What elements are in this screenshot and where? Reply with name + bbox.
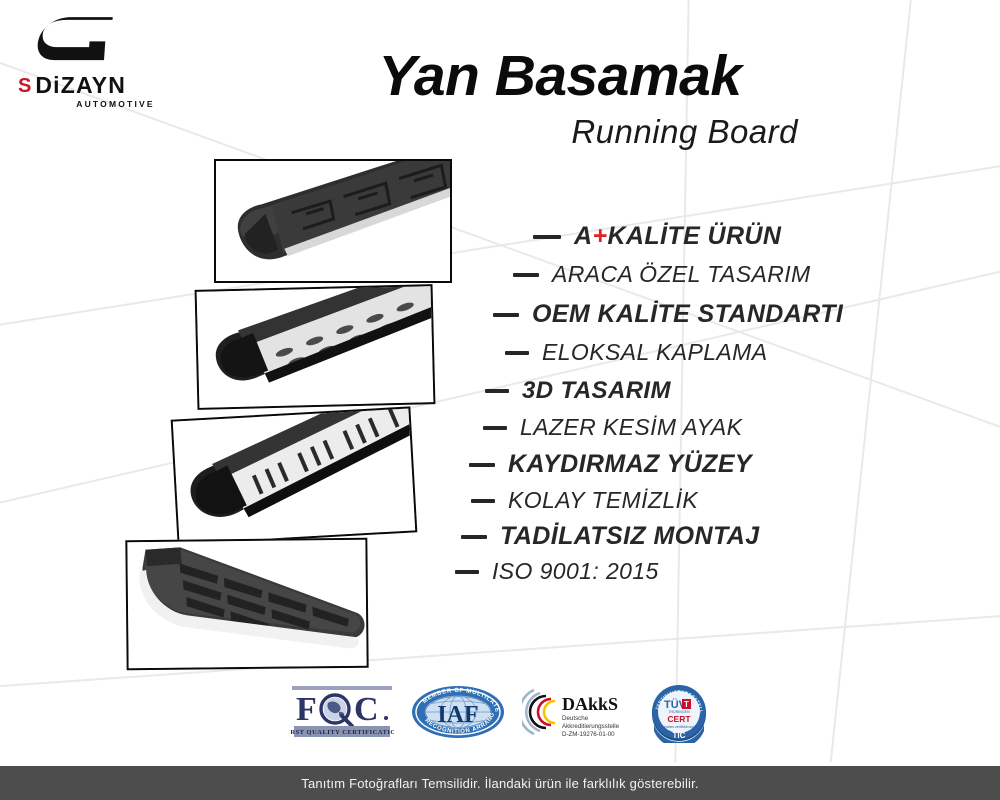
running-board-black-maze-tread bbox=[216, 161, 450, 281]
feature-label: KOLAY TEMİZLİK bbox=[508, 487, 698, 514]
feature-item: ARACA ÖZEL TASARIM bbox=[513, 261, 811, 288]
s-monogram-icon bbox=[34, 14, 120, 66]
feature-label: ELOKSAL KAPLAMA bbox=[542, 339, 767, 366]
headline-block: Yan Basamak Running Board bbox=[300, 48, 820, 151]
dakks-letters: DAkkS bbox=[562, 694, 618, 714]
feature-label: 3D TASARIM bbox=[522, 377, 671, 405]
iaf-letters: IAF bbox=[437, 702, 478, 728]
dakks-icon: DAkkS Deutsche Akkreditierungsstelle D-Z… bbox=[522, 684, 632, 740]
certification-logo-fqc: F C FIRST QUALITY CERTIFICATION bbox=[290, 684, 394, 745]
svg-text:F: F bbox=[296, 691, 317, 728]
feature-item: 3D TASARIM bbox=[485, 377, 671, 405]
certification-logo-iaf: IAF MEMBER OF MULTILATERAL RECOGNITION A… bbox=[410, 684, 506, 745]
bullet-dash-icon bbox=[483, 426, 507, 430]
svg-text:C: C bbox=[354, 691, 379, 728]
product-photo-1 bbox=[214, 159, 452, 283]
feature-label: TADİLATSIZ MONTAJ bbox=[500, 522, 760, 551]
footer-bar: Tanıtım Fotoğrafları Temsilidir. İlandak… bbox=[0, 766, 1000, 800]
page-title: Yan Basamak bbox=[300, 48, 820, 105]
feature-item: KAYDIRMAZ YÜZEY bbox=[469, 450, 752, 479]
bullet-dash-icon bbox=[505, 351, 529, 355]
fqc-icon: F C FIRST QUALITY CERTIFICATION bbox=[290, 684, 394, 740]
tuv-cert-icon: ZERTIFIZIERUNGSSTELLE TÜV T THÜRINGEN CE… bbox=[648, 681, 710, 743]
bullet-dash-icon bbox=[493, 313, 519, 317]
bullet-dash-icon bbox=[485, 389, 509, 393]
feature-label: ISO 9001: 2015 bbox=[492, 558, 659, 585]
dakks-line1: Deutsche bbox=[562, 715, 589, 722]
feature-item: KOLAY TEMİZLİK bbox=[471, 487, 698, 514]
footer-disclaimer: Tanıtım Fotoğrafları Temsilidir. İlandak… bbox=[301, 776, 699, 791]
running-board-slotted-aluminium bbox=[173, 409, 415, 544]
certification-row: F C FIRST QUALITY CERTIFICATION bbox=[290, 683, 710, 745]
feature-label: ARACA ÖZEL TASARIM bbox=[552, 261, 811, 288]
product-photo-4 bbox=[125, 538, 368, 671]
feature-label: OEM KALİTE STANDARTI bbox=[532, 300, 843, 329]
iaf-icon: IAF MEMBER OF MULTILATERAL RECOGNITION A… bbox=[410, 684, 506, 740]
product-poster: S DiZAYN AUTOMOTIVE Yan Basamak Running … bbox=[0, 0, 1000, 800]
bullet-dash-icon bbox=[455, 570, 479, 574]
bullet-dash-icon bbox=[469, 463, 495, 467]
logo-tagline: AUTOMOTIVE bbox=[40, 99, 191, 109]
feature-label: A+KALİTE ÜRÜN bbox=[574, 222, 781, 251]
feature-label: KAYDIRMAZ YÜZEY bbox=[508, 450, 752, 479]
fqc-caption: FIRST QUALITY CERTIFICATION bbox=[290, 729, 394, 736]
dakks-line2: Akkreditierungsstelle bbox=[562, 723, 620, 730]
running-board-perforated-aluminium bbox=[197, 286, 434, 408]
certification-logo-dakks: DAkkS Deutsche Akkreditierungsstelle D-Z… bbox=[522, 684, 632, 745]
bullet-dash-icon bbox=[533, 235, 561, 239]
logo-s-letter: S bbox=[18, 76, 30, 96]
dakks-line3: D-ZM-19276-01-00 bbox=[562, 731, 615, 738]
logo-wordmark: DiZAYN bbox=[35, 74, 126, 97]
certification-logo-tuv: ZERTIFIZIERUNGSSTELLE TÜV T THÜRINGEN CE… bbox=[648, 681, 710, 748]
running-board-rubber-brick-tread bbox=[127, 540, 366, 668]
product-photo-2 bbox=[195, 284, 436, 410]
svg-text:T: T bbox=[684, 700, 689, 709]
feature-item: ELOKSAL KAPLAMA bbox=[505, 339, 767, 366]
feature-item: OEM KALİTE STANDARTI bbox=[493, 300, 843, 329]
feature-item: LAZER KESİM AYAK bbox=[483, 414, 742, 441]
feature-item: ISO 9001: 2015 bbox=[455, 558, 659, 585]
feature-item: TADİLATSIZ MONTAJ bbox=[461, 522, 760, 551]
bullet-dash-icon bbox=[461, 535, 487, 539]
tuv-small-text: system zertifizierung bbox=[664, 725, 695, 729]
feature-item: A+KALİTE ÜRÜN bbox=[533, 222, 781, 251]
product-photo-3 bbox=[171, 406, 418, 545]
tuv-bottom-text: TIC bbox=[673, 731, 686, 740]
bullet-dash-icon bbox=[471, 499, 495, 503]
bullet-dash-icon bbox=[513, 273, 539, 277]
tuv-cert-word: CERT bbox=[667, 714, 691, 724]
feature-label: LAZER KESİM AYAK bbox=[520, 414, 742, 441]
page-subtitle: Running Board bbox=[300, 113, 820, 151]
brand-logo: S DiZAYN AUTOMOTIVE bbox=[16, 14, 191, 109]
watermark-line bbox=[819, 0, 915, 800]
